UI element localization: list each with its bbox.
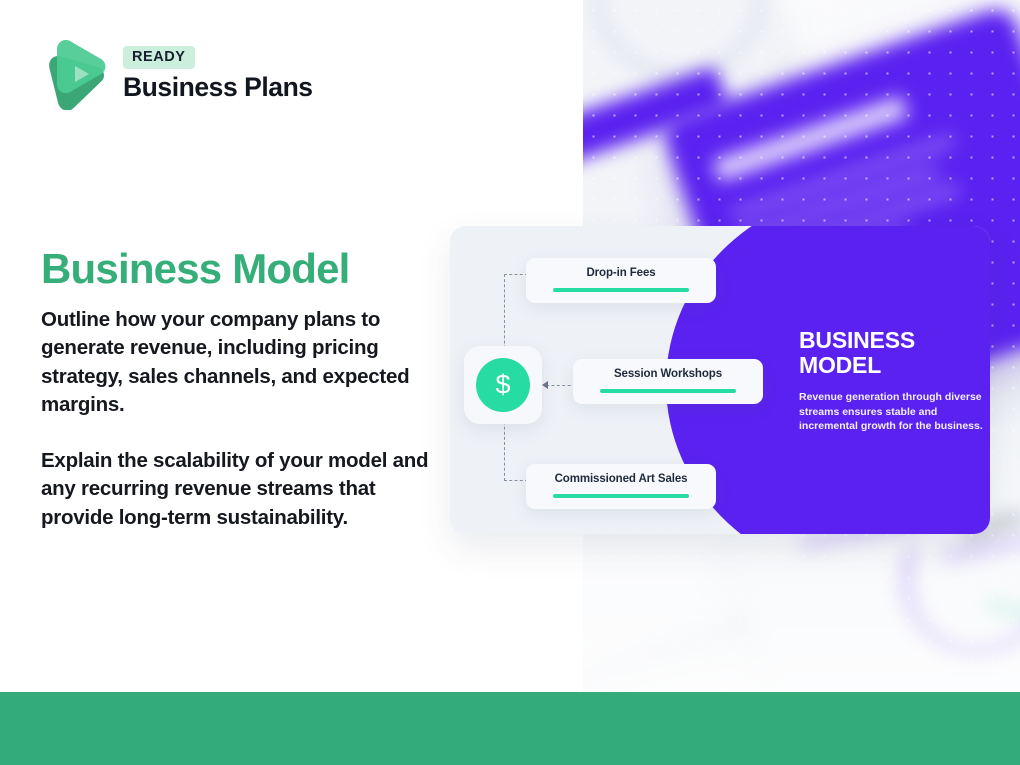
- connector-arrow-middle: [542, 381, 548, 389]
- body-copy: Outline how your company plans to genera…: [41, 306, 441, 532]
- dollar-sign-icon: $: [476, 358, 530, 412]
- play-triangle-logo-icon: [41, 38, 107, 110]
- revenue-stream-card-2[interactable]: Session Workshops: [573, 359, 763, 404]
- revenue-stream-card-1[interactable]: Drop-in Fees: [526, 258, 716, 303]
- purple-panel-description: Revenue generation through diverse strea…: [799, 390, 984, 435]
- brand-logo-lockup: READY Business Plans: [41, 38, 313, 110]
- revenue-stream-label: Drop-in Fees: [586, 267, 655, 279]
- brand-text-group: READY Business Plans: [123, 46, 313, 102]
- accent-bar: [553, 494, 689, 498]
- revenue-stream-card-3[interactable]: Commissioned Art Sales: [526, 464, 716, 509]
- slide-canvas: READY Business Plans Business Model Outl…: [0, 0, 1020, 765]
- accent-bar: [600, 389, 736, 393]
- revenue-stream-label: Commissioned Art Sales: [555, 473, 688, 485]
- footer-band: [0, 692, 1020, 765]
- business-model-diagram-card: BUSINESS MODEL Revenue generation throug…: [450, 226, 990, 534]
- connector-horizontal-top: [504, 274, 528, 275]
- ready-badge: READY: [123, 46, 195, 69]
- purple-panel-content: BUSINESS MODEL Revenue generation throug…: [799, 328, 984, 434]
- brand-name: Business Plans: [123, 73, 313, 102]
- accent-bar: [553, 288, 689, 292]
- body-paragraph-2: Explain the scalability of your model an…: [41, 447, 441, 532]
- purple-panel-title: BUSINESS MODEL: [799, 328, 984, 378]
- body-paragraph-1: Outline how your company plans to genera…: [41, 306, 441, 419]
- connector-horizontal-bottom: [504, 480, 528, 481]
- revenue-stream-label: Session Workshops: [614, 368, 722, 380]
- page-title: Business Model: [41, 246, 350, 291]
- svg-text:$: $: [495, 370, 510, 400]
- revenue-center-node: $: [464, 346, 542, 424]
- connector-horizontal-middle: [546, 385, 576, 386]
